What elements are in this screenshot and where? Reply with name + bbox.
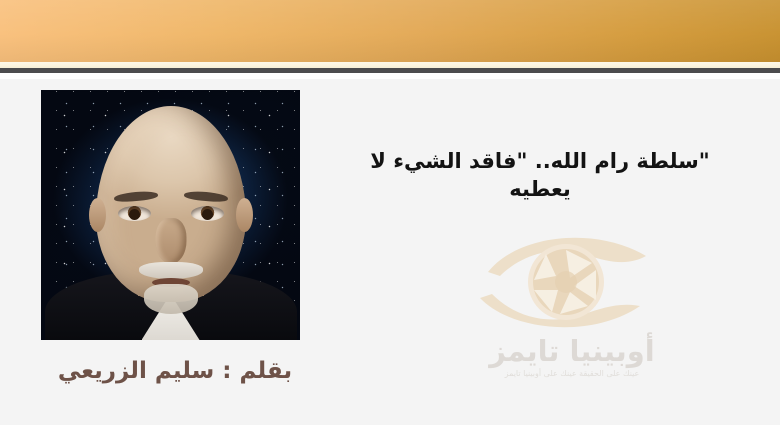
article-byline: بقلم : سليم الزريعي xyxy=(40,358,310,384)
article-headline: "سلطة رام الله.. "فاقد الشيء لا يعطيه xyxy=(340,147,740,204)
portrait-ear-right xyxy=(236,198,253,232)
author-portrait xyxy=(41,90,300,340)
eye-aperture-logo-icon xyxy=(478,232,670,336)
portrait-mustache xyxy=(139,262,203,279)
portrait-pupil-left xyxy=(129,209,140,220)
watermark-tagline: عينك على الحقيقة عينك على أوبينيا تايمز xyxy=(452,369,692,378)
top-banner xyxy=(0,0,780,62)
portrait-brow-left xyxy=(113,190,158,203)
site-watermark: أوبينيا تايمز عينك على الحقيقة عينك على … xyxy=(452,232,692,392)
banner-white-gap xyxy=(0,73,780,79)
portrait-nose xyxy=(155,218,186,264)
banner-sheen xyxy=(0,0,780,62)
portrait-pupil-right xyxy=(202,209,213,220)
portrait-ear-left xyxy=(89,198,106,232)
portrait-beard xyxy=(144,284,198,314)
watermark-name: أوبينيا تايمز xyxy=(452,336,692,368)
portrait-brow-right xyxy=(183,190,228,203)
